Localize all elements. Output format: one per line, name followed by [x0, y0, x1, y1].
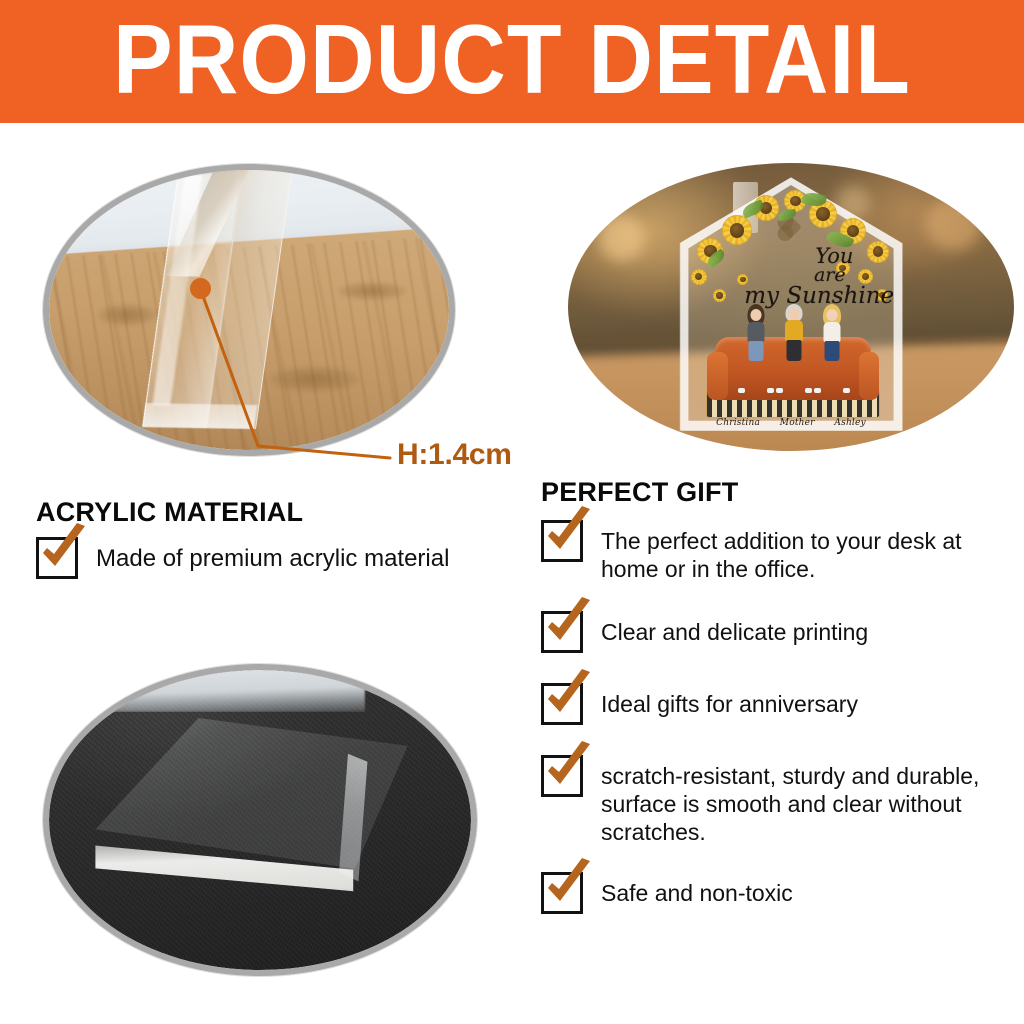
dimension-label: H:1.4cm [397, 438, 512, 472]
figure-person [775, 304, 813, 390]
list-item: Made of premium acrylic material [36, 537, 516, 579]
section-heading-perfect-gift: PERFECT GIFT [541, 477, 738, 508]
check-mark-icon [540, 505, 598, 563]
page-title: PRODUCT DETAIL [0, 0, 1024, 123]
couch-arm [707, 352, 727, 400]
couch-arm [859, 352, 879, 400]
checkbox-checked [541, 683, 583, 725]
dimension-dot-icon [190, 278, 211, 299]
acrylic-square-slab [95, 718, 407, 928]
photo-block-inner [49, 670, 471, 970]
figure-person [813, 304, 851, 390]
plaque-script-text: You are my Sunshine [746, 246, 898, 308]
feature-list-perfect-gift: The perfect addition to your desk at hom… [541, 520, 1011, 914]
list-item: Clear and delicate printing [541, 611, 1011, 653]
product-detail-infographic: PRODUCT DETAIL H:1.4cm [0, 0, 1024, 1024]
feature-list-acrylic-material: Made of premium acrylic material [36, 537, 516, 601]
photo-sunflower-plaque-view: You are my Sunshine [568, 163, 1014, 451]
plaque-name: Christina [716, 418, 760, 428]
plaque-names-row: Christina Mother Ashley [706, 418, 875, 428]
list-item-label: Safe and non-toxic [601, 872, 1011, 907]
list-item-label: Ideal gifts for anniversary [601, 683, 1011, 718]
check-mark-icon [35, 522, 93, 580]
checkbox-checked [541, 872, 583, 914]
sunflower-icon [691, 269, 707, 285]
checkbox-checked [541, 520, 583, 562]
header-band: PRODUCT DETAIL [0, 0, 1024, 123]
list-item: Safe and non-toxic [541, 872, 1011, 914]
house-shaped-acrylic-plaque: You are my Sunshine [680, 177, 903, 430]
list-item: scratch-resistant, sturdy and durable, s… [541, 755, 1011, 846]
list-item: Ideal gifts for anniversary [541, 683, 1011, 725]
wood-knot [269, 366, 359, 392]
list-item-label: scratch-resistant, sturdy and durable, s… [601, 755, 1011, 846]
list-item-label: The perfect addition to your desk at hom… [601, 520, 1011, 583]
bokeh-light [925, 198, 981, 250]
plaque-name: Mother [780, 418, 815, 428]
background-light-sliver [104, 670, 366, 712]
photo-acrylic-block-view [43, 664, 477, 976]
bokeh-light [599, 215, 645, 261]
acrylic-base-edge [142, 402, 257, 428]
list-item-label: Made of premium acrylic material [96, 537, 516, 573]
check-mark-icon [540, 857, 598, 915]
checkbox-checked [36, 537, 78, 579]
check-mark-icon [540, 740, 598, 798]
check-mark-icon [540, 668, 598, 726]
photo-acrylic-edge-view [43, 164, 455, 456]
photo-edge-inner [49, 170, 449, 450]
checkbox-checked [541, 755, 583, 797]
checkbox-checked [541, 611, 583, 653]
wood-knot [337, 282, 407, 300]
plaque-name: Ashley [834, 418, 865, 428]
list-item-label: Clear and delicate printing [601, 611, 1011, 646]
script-line-1: You [771, 246, 898, 267]
figure-person [737, 304, 775, 390]
list-item: The perfect addition to your desk at hom… [541, 520, 1011, 583]
check-mark-icon [540, 596, 598, 654]
sunflower-icon [713, 289, 726, 302]
